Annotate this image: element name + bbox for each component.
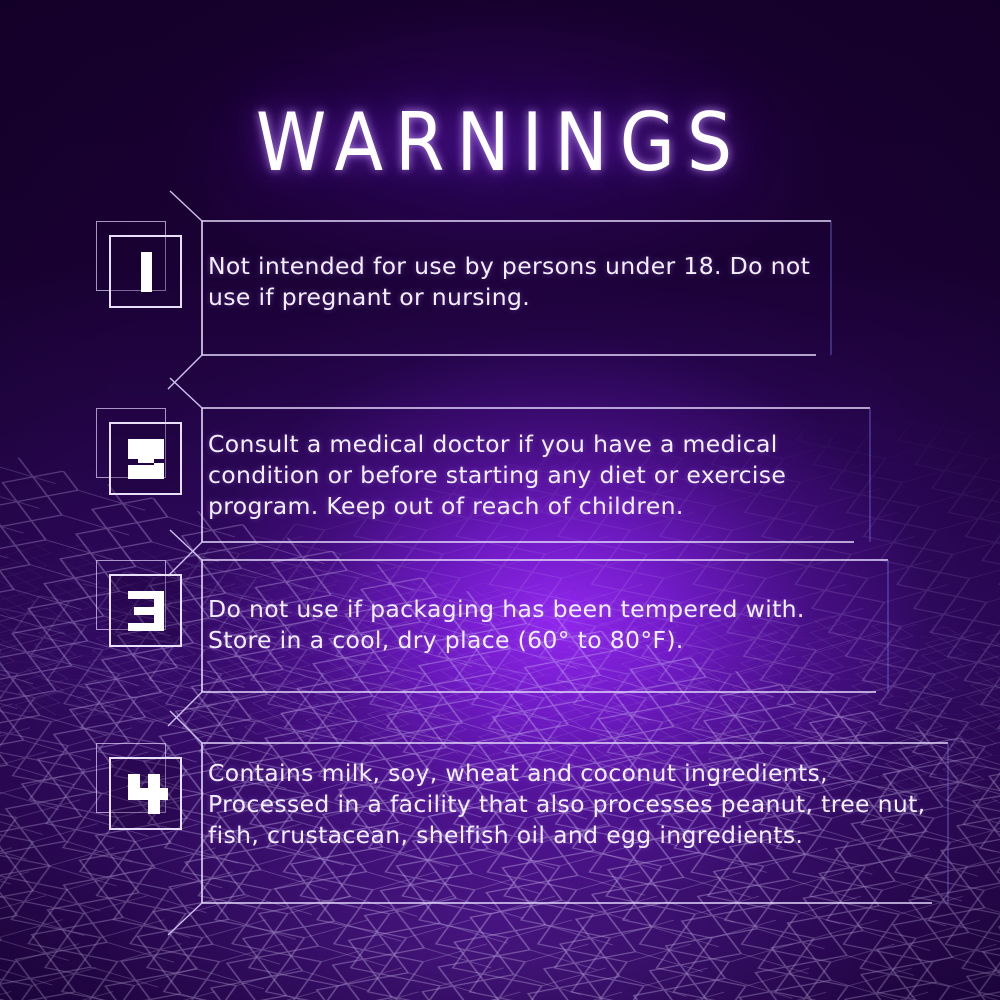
- warning-number-badge: [96, 408, 182, 494]
- badge-front-square: [109, 757, 182, 830]
- badge-front-square: [109, 422, 182, 495]
- warning-text: Consult a medical doctor if you have a m…: [208, 429, 868, 522]
- warnings-panel: WARNINGS Not intended for use by persons…: [0, 0, 1000, 1000]
- warning-number-badge: [96, 221, 182, 307]
- warning-number-badge: [96, 560, 182, 646]
- page-title-wrapper: WARNINGS: [0, 104, 1000, 181]
- page-title: WARNINGS: [256, 96, 744, 190]
- warning-item: Contains milk, soy, wheat and coconut in…: [0, 735, 1000, 911]
- badge-front-square: [109, 235, 182, 308]
- warning-number-badge: [96, 743, 182, 829]
- warning-item: Not intended for use by persons under 18…: [0, 213, 1000, 365]
- numeral-2-icon: [124, 437, 168, 481]
- warning-text: Not intended for use by persons under 18…: [208, 251, 838, 313]
- numeral-4-icon: [124, 772, 168, 816]
- numeral-1-icon: [127, 250, 165, 294]
- warning-text: Contains milk, soy, wheat and coconut in…: [208, 758, 948, 851]
- numeral-3-icon: [124, 589, 168, 633]
- badge-front-square: [109, 574, 182, 647]
- warning-item: Do not use if packaging has been tempere…: [0, 552, 1000, 702]
- warning-item: Consult a medical doctor if you have a m…: [0, 400, 1000, 552]
- warning-text: Do not use if packaging has been tempere…: [208, 594, 828, 656]
